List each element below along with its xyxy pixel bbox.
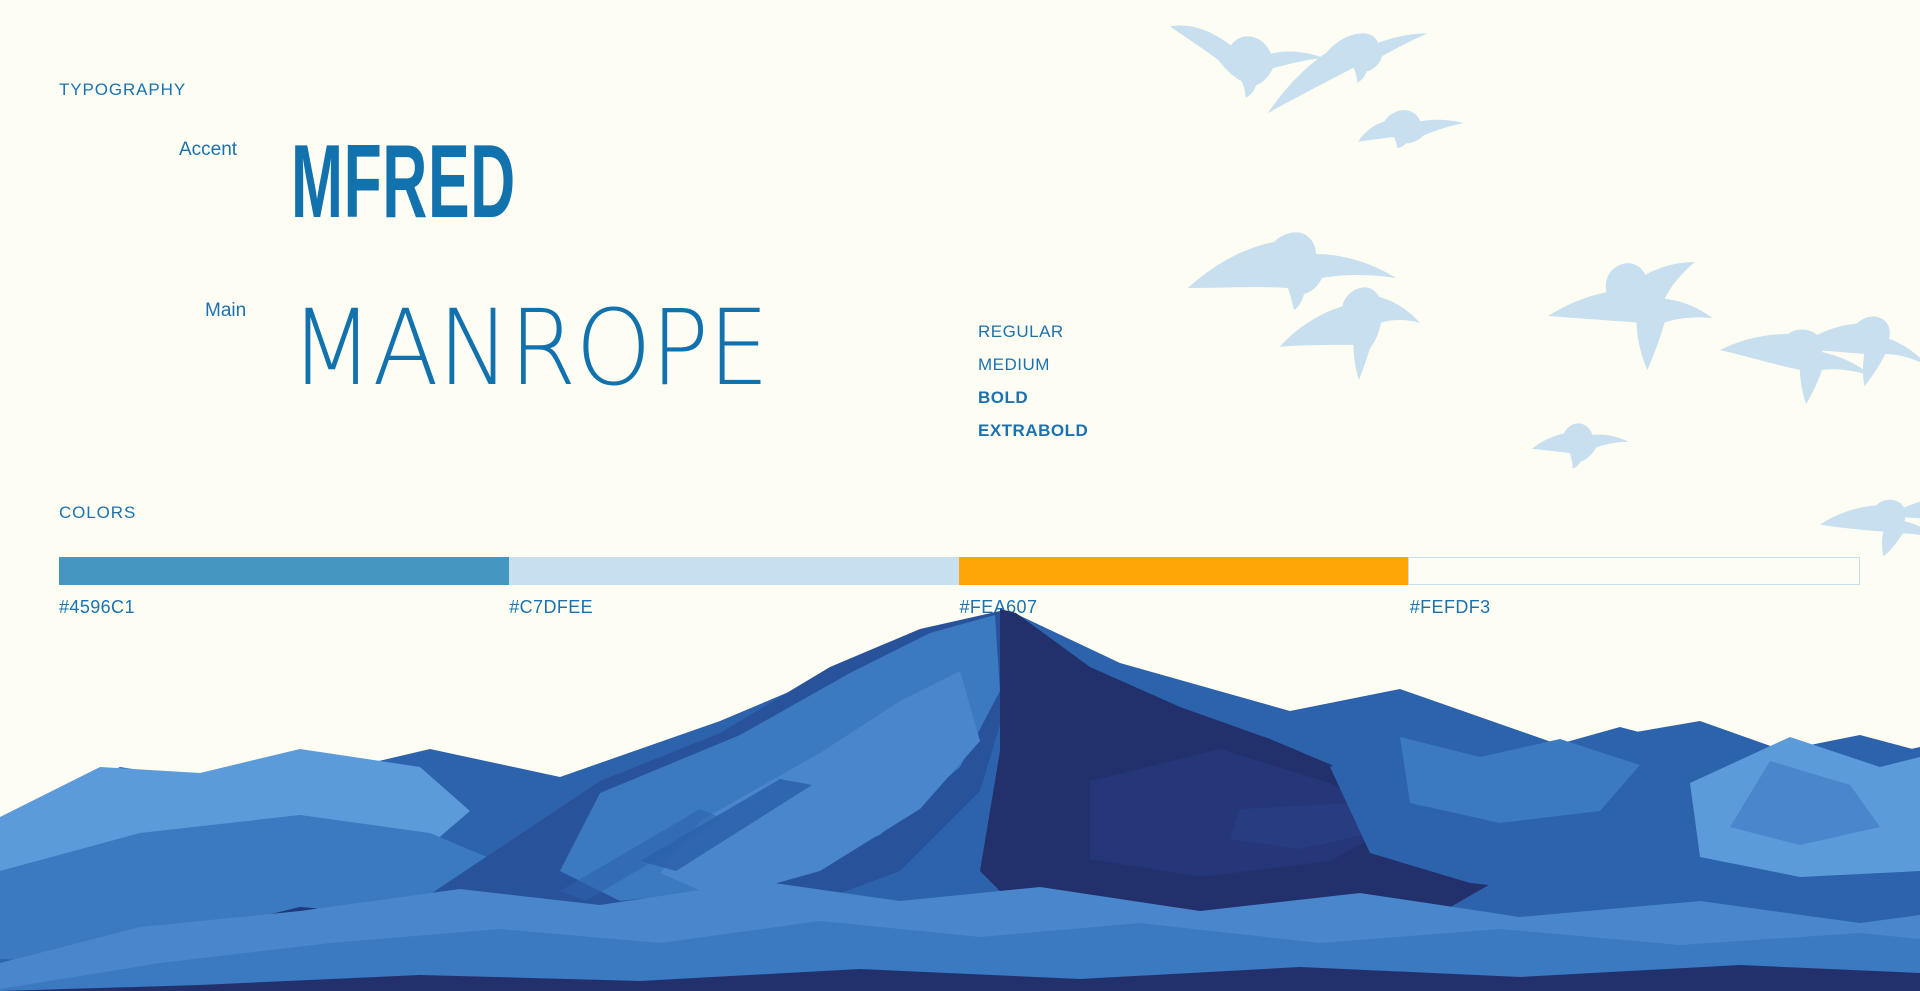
font-weight-regular: REGULAR	[978, 318, 1088, 346]
accent-font-specimen: MFRED	[291, 130, 516, 234]
colors-section-label: COLORS	[59, 503, 136, 523]
main-font-specimen: MANROPE	[290, 296, 768, 400]
brand-style-guide-page: TYPOGRAPHY Accent MFRED Main MANROPE REG…	[0, 0, 1920, 991]
font-weight-bold: BOLD	[978, 384, 1088, 412]
font-weights-list: REGULAR MEDIUM BOLD EXTRABOLD	[978, 318, 1088, 445]
accent-font-kind-label: Accent	[179, 139, 237, 161]
seagulls-illustration	[1160, 0, 1920, 560]
main-font-kind-label: Main	[205, 300, 246, 322]
font-weight-extrabold: EXTRABOLD	[978, 417, 1088, 445]
mountain-illustration	[0, 571, 1920, 991]
font-weight-medium: MEDIUM	[978, 351, 1088, 379]
typography-section-label: TYPOGRAPHY	[59, 80, 186, 100]
